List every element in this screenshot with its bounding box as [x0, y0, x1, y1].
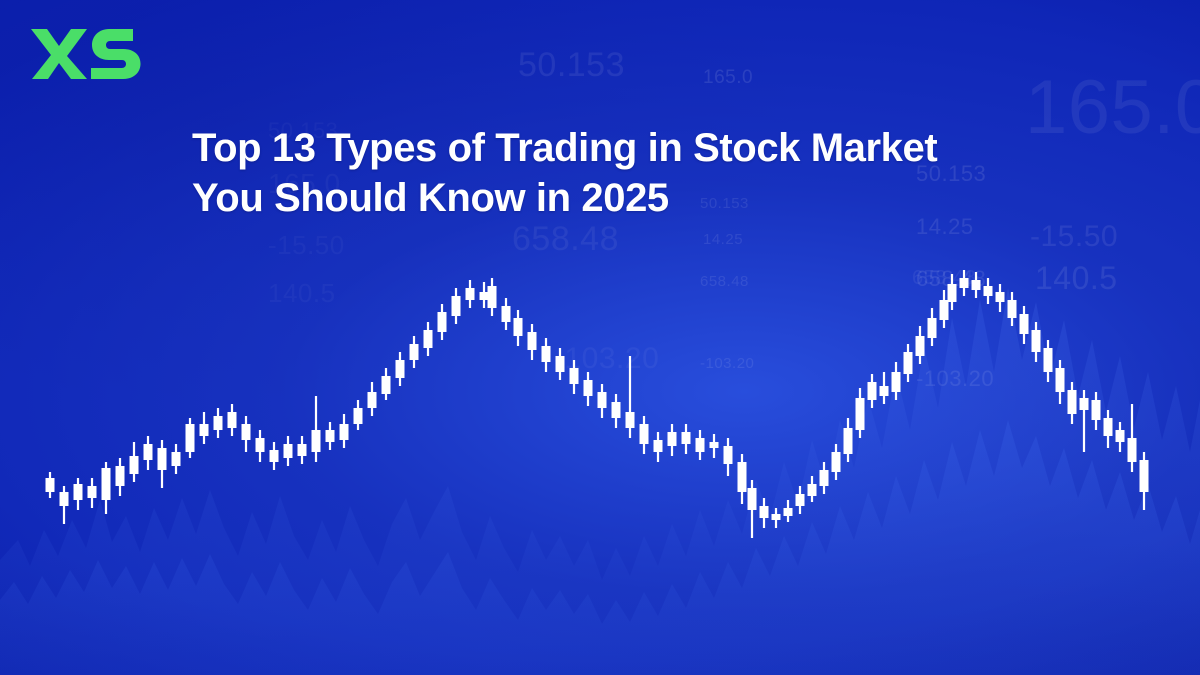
candlestick — [868, 374, 877, 408]
candlestick — [528, 324, 537, 360]
candlestick — [214, 408, 223, 438]
candlestick — [1020, 306, 1029, 344]
candlestick — [270, 442, 279, 470]
candlestick — [996, 284, 1005, 312]
candlestick — [298, 436, 307, 464]
candlestick — [256, 430, 265, 462]
candlestick — [326, 422, 335, 450]
candlestick — [502, 298, 511, 330]
candlestick — [1128, 404, 1137, 472]
candlestick — [796, 486, 805, 514]
candlestick — [1116, 422, 1125, 452]
candlestick — [466, 280, 475, 308]
candlestick — [1044, 340, 1053, 382]
candlestick — [396, 352, 405, 386]
candlestick — [200, 412, 209, 444]
candlestick — [972, 272, 981, 298]
candlestick — [928, 308, 937, 346]
candlestick — [626, 356, 635, 438]
candlestick — [682, 424, 691, 454]
candlestick — [584, 372, 593, 406]
candlestick — [186, 418, 195, 458]
candlestick — [784, 500, 793, 522]
candlestick — [368, 382, 377, 416]
candlestick — [452, 288, 461, 324]
candlestick — [696, 430, 705, 460]
candlestick — [654, 432, 663, 462]
candlestick — [438, 304, 447, 340]
candlestick — [284, 436, 293, 466]
candlestick — [832, 444, 841, 480]
candlestick — [724, 438, 733, 476]
candlestick — [488, 278, 497, 316]
candlestick — [570, 360, 579, 394]
candlestick — [242, 416, 251, 452]
candlestick-chart — [0, 0, 1200, 675]
candlestick — [1032, 322, 1041, 362]
candlestick — [844, 418, 853, 462]
candlestick — [904, 344, 913, 382]
candlestick — [46, 472, 55, 498]
candlestick — [880, 372, 889, 404]
candlestick — [820, 462, 829, 494]
candlestick — [856, 388, 865, 438]
candlestick — [424, 322, 433, 356]
candlestick — [760, 498, 769, 528]
candlestick — [228, 404, 237, 436]
candlestick — [984, 278, 993, 304]
candlestick — [940, 290, 949, 328]
candlestick — [640, 416, 649, 454]
candlestick — [1056, 360, 1065, 404]
candlestick — [116, 458, 125, 496]
candlestick — [1008, 292, 1017, 326]
candlestick — [892, 362, 901, 400]
candlestick — [60, 486, 69, 524]
candlestick — [354, 400, 363, 430]
candlestick — [542, 338, 551, 372]
candlestick — [556, 348, 565, 380]
xs-logo[interactable] — [29, 23, 149, 83]
candlestick — [1104, 410, 1113, 448]
candlestick — [612, 394, 621, 428]
candlestick — [130, 442, 139, 482]
candlestick — [88, 478, 97, 508]
candlestick — [948, 274, 957, 310]
candlestick — [144, 436, 153, 470]
candlestick — [102, 462, 111, 514]
candlestick — [172, 444, 181, 474]
candlestick — [158, 440, 167, 488]
candlestick — [710, 434, 719, 458]
candlestick — [74, 478, 83, 510]
candlestick — [808, 476, 817, 502]
candlestick — [748, 480, 757, 538]
candlestick — [410, 336, 419, 368]
candlestick — [916, 326, 925, 364]
candlestick — [668, 424, 677, 456]
candlestick — [772, 508, 781, 528]
candlestick — [738, 454, 747, 504]
candlestick — [480, 282, 489, 308]
candlestick — [514, 310, 523, 346]
page-title: Top 13 Types of Trading in Stock Market … — [192, 123, 1072, 223]
candlestick — [960, 270, 969, 296]
candlestick — [1092, 392, 1101, 430]
page-title-line-2: You Should Know in 2025 — [192, 173, 1072, 223]
candlestick — [340, 414, 349, 448]
banner-hero: 50.153165.0165.0165.050.15350.153658.481… — [0, 0, 1200, 675]
page-title-line-1: Top 13 Types of Trading in Stock Market — [192, 123, 1072, 173]
candlestick — [1080, 390, 1089, 452]
candlestick — [312, 396, 321, 462]
candlestick — [1140, 452, 1149, 510]
candlestick — [382, 368, 391, 400]
candlestick — [598, 384, 607, 418]
candlestick — [1068, 382, 1077, 424]
